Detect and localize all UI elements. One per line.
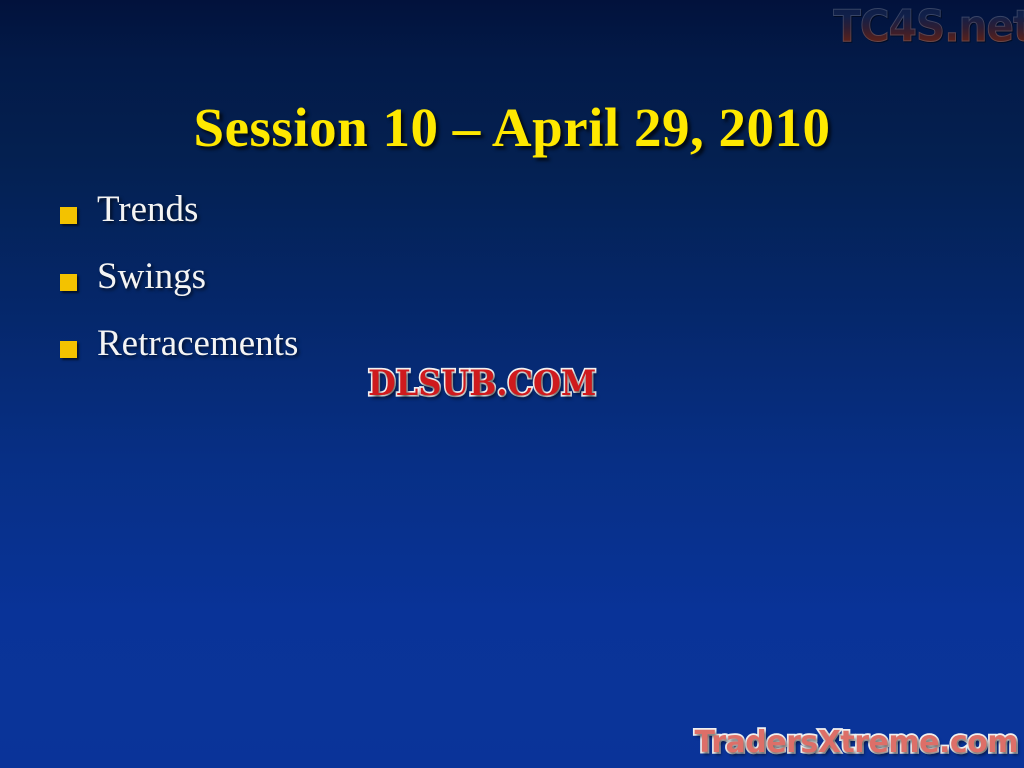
bullet-list: Trends Swings Retracements — [60, 186, 940, 387]
square-bullet-icon — [60, 274, 77, 291]
square-bullet-icon — [60, 207, 77, 224]
bullet-label-retracements: Retracements — [97, 320, 298, 368]
watermark-dlsub: DLSUB.COM — [368, 363, 596, 405]
watermark-tc4s: TC4S.net — [834, 2, 1024, 52]
bullet-label-trends: Trends — [97, 186, 198, 234]
list-item: Swings — [60, 253, 940, 320]
square-bullet-icon — [60, 341, 77, 358]
bullet-label-swings: Swings — [97, 253, 206, 301]
list-item: Trends — [60, 186, 940, 253]
watermark-tradersxtreme: TradersXtreme.com — [695, 724, 1018, 762]
presentation-slide: Session 10 – April 29, 2010 Trends Swing… — [0, 0, 1024, 768]
slide-title: Session 10 – April 29, 2010 — [0, 97, 1024, 159]
